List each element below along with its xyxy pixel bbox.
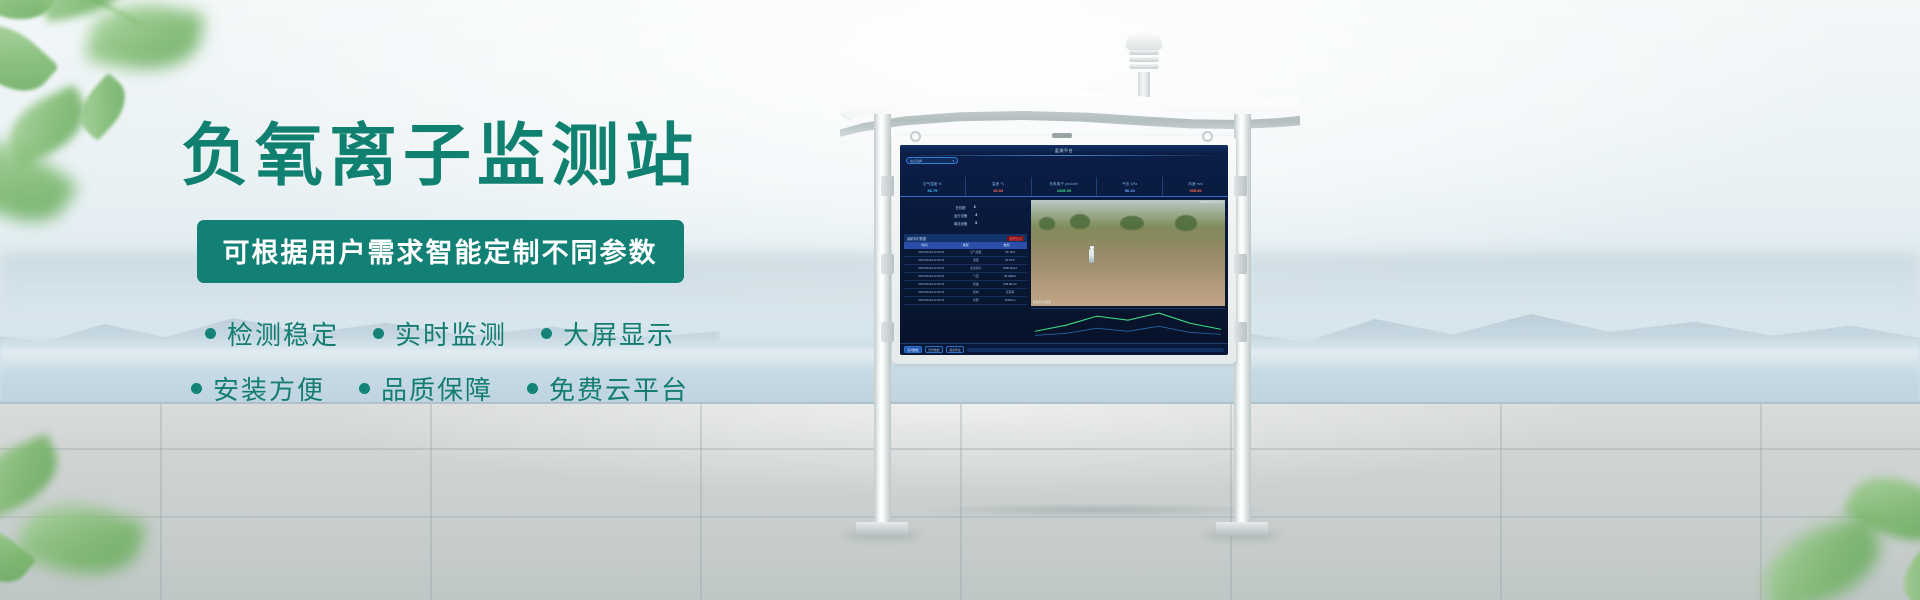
metric-label: 温度 ℃ xyxy=(992,181,1004,186)
table-cell: 96.40kPa xyxy=(993,273,1027,280)
metric-label: 气压 kPa xyxy=(1122,181,1137,186)
table-cell: 2023-06-29 10:34:31 xyxy=(904,257,959,264)
table-cell: 温度 xyxy=(959,257,993,264)
table-cell: 56.79% xyxy=(993,249,1027,256)
feature-label: 安装方便 xyxy=(213,370,325,407)
table-cell: 气压 xyxy=(959,273,993,280)
video-tree xyxy=(1070,214,1090,229)
dashboard-left-column: 在线数 2 运行设备 2 离线设备 0 xyxy=(900,197,1031,343)
status-value: 0 xyxy=(975,221,977,226)
footer-tab-realtime[interactable]: 实时数据 xyxy=(904,346,922,354)
table-cell: 负氧离子 xyxy=(959,265,993,272)
live-video-feed[interactable]: 2023-06-29 10:34:31 监测点实时画面 xyxy=(1031,200,1225,306)
table-cell: 2023-06-29 10:34:31 xyxy=(904,265,959,272)
bullet-dot-icon xyxy=(527,383,538,394)
table-cell: 光照 xyxy=(959,297,993,304)
bullet-dot-icon xyxy=(541,328,552,339)
feature-label: 免费云平台 xyxy=(549,370,689,407)
bullet-dot-icon xyxy=(359,383,370,394)
table-cell: 1085.00pcs xyxy=(993,265,1027,272)
video-timestamp: 2023-06-29 10:34:31 xyxy=(1199,201,1223,204)
status-row: 运行设备 2 xyxy=(954,213,977,218)
alarm-panel-header: 最新实时数据 报警信息 xyxy=(904,234,1027,242)
dashboard-screen[interactable]: 监测平台 站点选择 ▾ 空气湿度 % 56.79 温度 ℃ 26.54 xyxy=(900,145,1228,355)
status-key: 在线数 xyxy=(956,205,966,210)
feature-row: 安装方便 品质保障 免费云平台 xyxy=(191,370,689,407)
post-base-plate-right xyxy=(1216,522,1268,536)
weather-sensor-icon xyxy=(1124,32,1164,94)
bullet-dot-icon xyxy=(373,328,384,339)
status-key: 离线设备 xyxy=(954,221,968,226)
mount-bracket xyxy=(1234,176,1247,196)
post-base-plate-left xyxy=(856,522,908,536)
status-value: 2 xyxy=(974,205,976,210)
metric-value: 005.80 xyxy=(1189,188,1201,193)
bullet-dot-icon xyxy=(205,328,216,339)
footer-tab-history[interactable]: 历史数据 xyxy=(925,346,943,354)
pavement-seam-vertical xyxy=(1760,404,1762,600)
bullet-dot-icon xyxy=(191,383,202,394)
cabinet-hook-icon xyxy=(910,131,921,142)
dashboard-right-column: 2023-06-29 10:34:31 监测点实时画面 xyxy=(1031,197,1228,343)
table-cell: 005.80m/s xyxy=(993,281,1027,288)
metric-card: 气压 kPa 96.40 xyxy=(1097,177,1163,196)
table-header-cell: 数值 xyxy=(986,242,1027,249)
pavement-seam-vertical xyxy=(160,404,162,600)
feature-item: 安装方便 xyxy=(191,370,325,407)
table-row: 2023-06-29 10:34:31 负氧离子 1085.00pcs xyxy=(904,265,1027,273)
mount-bracket xyxy=(881,176,894,196)
table-row: 2023-06-29 10:34:31 气压 96.40kPa xyxy=(904,273,1027,281)
pavement-seam-vertical xyxy=(1500,404,1502,600)
table-cell: 2023-06-29 10:34:31 xyxy=(904,249,959,256)
status-row: 在线数 2 xyxy=(956,205,976,210)
video-tree xyxy=(1175,215,1197,231)
display-cabinet: 监测平台 站点选择 ▾ 空气湿度 % 56.79 温度 ℃ 26.54 xyxy=(892,136,1236,364)
table-row: 2023-06-29 10:34:31 风向 东南风 xyxy=(904,289,1027,297)
video-tree xyxy=(1039,217,1055,230)
mount-bracket xyxy=(1234,322,1247,342)
feature-list: 检测稳定 实时监测 大屏显示 安装方便 品质保障 xyxy=(0,315,880,407)
table-row: 2023-06-29 10:34:31 光照 2045Lux xyxy=(904,297,1027,305)
site-selector-dropdown[interactable]: 站点选择 ▾ xyxy=(906,157,958,164)
table-cell: 2023-06-29 10:34:31 xyxy=(904,297,959,304)
dashboard-title: 监测平台 xyxy=(1055,148,1073,154)
feature-item: 大屏显示 xyxy=(541,315,675,352)
table-cell: 风速 xyxy=(959,281,993,288)
video-tree xyxy=(1120,216,1144,230)
metric-label: 风速 m/s xyxy=(1188,181,1202,186)
sensor-ring xyxy=(1129,64,1159,69)
trend-chart-svg xyxy=(1031,309,1225,339)
table-cell: 2023-06-29 10:34:31 xyxy=(904,281,959,288)
trend-chart xyxy=(1031,308,1225,339)
sensor-cap xyxy=(1126,32,1162,49)
table-cell: 26.54℃ xyxy=(993,257,1027,264)
video-person xyxy=(1089,249,1094,263)
metric-value: 96.40 xyxy=(1125,188,1135,193)
trend-line-series xyxy=(1035,313,1221,331)
data-table: 时间 类型 数值 2023-06-29 10:34:31 空气湿度 56.79%… xyxy=(904,242,1027,305)
alarm-panel-title: 最新实时数据 xyxy=(907,236,926,241)
table-cell: 2045Lux xyxy=(993,297,1027,304)
feature-label: 大屏显示 xyxy=(563,315,675,352)
status-row: 离线设备 0 xyxy=(954,221,977,226)
feature-label: 品质保障 xyxy=(381,370,493,407)
dashboard-title-bar: 监测平台 xyxy=(900,145,1228,156)
subtitle-pill: 可根据用户需求智能定制不同参数 xyxy=(197,220,684,283)
cabinet-hook-icon xyxy=(1202,131,1213,142)
metric-value: 1085.00 xyxy=(1057,188,1071,193)
status-value: 2 xyxy=(975,213,977,218)
table-cell: 风向 xyxy=(959,289,993,296)
table-cell: 2023-06-29 10:34:31 xyxy=(904,289,959,296)
mount-bracket xyxy=(1234,254,1247,274)
metric-label: 空气湿度 % xyxy=(923,181,942,186)
table-cell: 2023-06-29 10:34:31 xyxy=(904,273,959,280)
feature-row: 检测稳定 实时监测 大屏显示 xyxy=(205,315,675,352)
metric-value: 56.79 xyxy=(927,188,937,193)
feature-item: 品质保障 xyxy=(359,370,493,407)
feature-item: 免费云平台 xyxy=(527,370,689,407)
status-key: 运行设备 xyxy=(954,213,968,218)
table-cell: 东南风 xyxy=(993,289,1027,296)
monitoring-station: 监测平台 站点选择 ▾ 空气湿度 % 56.79 温度 ℃ 26.54 xyxy=(830,28,1350,568)
table-cell: 空气湿度 xyxy=(959,249,993,256)
metric-card: 温度 ℃ 26.54 xyxy=(966,177,1032,196)
metric-card: 风速 m/s 005.80 xyxy=(1163,177,1228,196)
sensor-ring xyxy=(1129,50,1159,55)
table-header-cell: 类型 xyxy=(945,242,986,249)
mount-bracket xyxy=(881,322,894,342)
feature-label: 实时监测 xyxy=(395,315,507,352)
feature-item: 实时监测 xyxy=(373,315,507,352)
metric-value: 26.54 xyxy=(993,188,1003,193)
table-row: 2023-06-29 10:34:31 风速 005.80m/s xyxy=(904,281,1027,289)
feature-item: 检测稳定 xyxy=(205,315,339,352)
metric-strip: 空气湿度 % 56.79 温度 ℃ 26.54 负氧离子 pcs/cm³ 108… xyxy=(900,177,1228,197)
metric-label: 负氧离子 pcs/cm³ xyxy=(1050,181,1079,186)
feature-label: 检测稳定 xyxy=(227,315,339,352)
hero-banner: 负氧离子监测站 可根据用户需求智能定制不同参数 检测稳定 实时监测 大屏显示 xyxy=(0,0,1920,600)
pavement-seam-vertical xyxy=(700,404,702,600)
video-location-tag: 监测点实时画面 xyxy=(1033,300,1051,304)
site-selector-value: 站点选择 xyxy=(910,159,922,163)
status-badge: 报警信息 xyxy=(1007,236,1024,241)
pavement-seam-vertical xyxy=(430,404,432,600)
dashboard-body: 在线数 2 运行设备 2 离线设备 0 xyxy=(900,197,1228,343)
table-header-row: 时间 类型 数值 xyxy=(904,242,1027,249)
chevron-down-icon: ▾ xyxy=(952,159,954,163)
metric-card: 空气湿度 % 56.79 xyxy=(900,177,966,196)
trend-line-secondary xyxy=(1035,326,1221,335)
sensor-ring xyxy=(1129,57,1159,62)
footer-tab-export[interactable]: 报表导出 xyxy=(946,346,964,354)
table-row: 2023-06-29 10:34:31 空气湿度 56.79% xyxy=(904,249,1027,257)
page-title: 负氧离子监测站 xyxy=(0,118,880,194)
cabinet-latch-icon xyxy=(1052,133,1072,138)
table-row: 2023-06-29 10:34:31 温度 26.54℃ xyxy=(904,257,1027,265)
device-status-panel: 在线数 2 运行设备 2 离线设备 0 xyxy=(904,200,1027,232)
footer-progress-bar xyxy=(967,348,1224,352)
mount-bracket xyxy=(881,254,894,274)
hero-copy-block: 负氧离子监测站 可根据用户需求智能定制不同参数 检测稳定 实时监测 大屏显示 xyxy=(0,118,880,407)
dashboard-footer: 实时数据 历史数据 报表导出 xyxy=(900,343,1228,355)
metric-card: 负氧离子 pcs/cm³ 1085.00 xyxy=(1032,177,1098,196)
table-header-cell: 时间 xyxy=(904,242,945,249)
